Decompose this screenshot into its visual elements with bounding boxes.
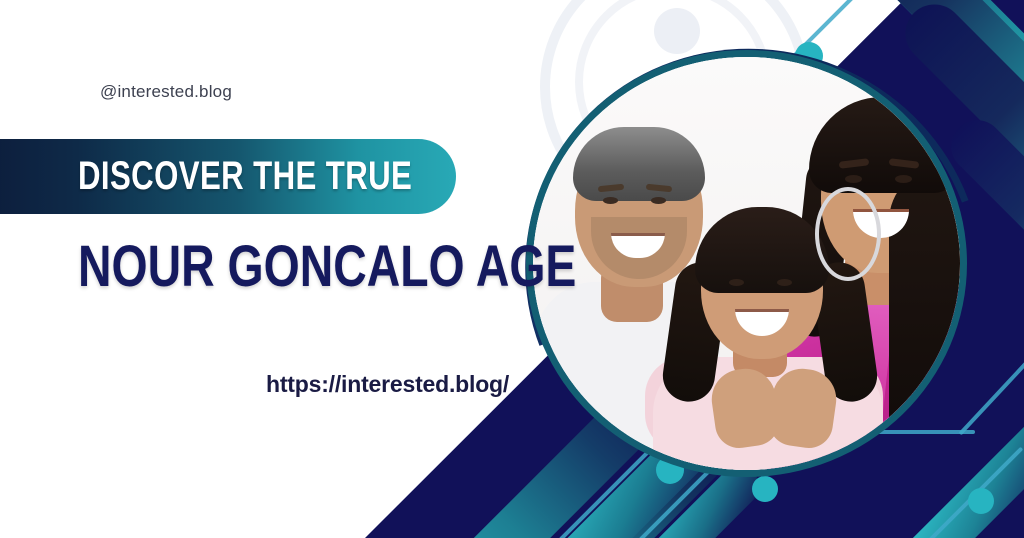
blog-handle: @interested.blog — [100, 82, 232, 102]
girl-eye-left — [729, 279, 744, 286]
family-photo-circle — [533, 57, 960, 470]
eyebrow-pill: DISCOVER THE TRUE — [0, 139, 456, 214]
mother-hoop-earring — [815, 187, 881, 281]
circuit-node-3 — [968, 488, 994, 514]
blog-url: https://interested.blog/ — [266, 371, 509, 398]
father-hair — [573, 127, 705, 201]
father-eye-right — [651, 197, 666, 204]
eyebrow-label: DISCOVER THE TRUE — [78, 154, 412, 199]
decorative-soft-dot — [654, 8, 700, 54]
father-eye-left — [603, 197, 618, 204]
banner-canvas: @interested.blog DISCOVER THE TRUE NOUR … — [0, 0, 1024, 538]
mother-eye-right — [895, 175, 912, 183]
girl-eye-right — [777, 279, 792, 286]
mother-eye-left — [845, 175, 862, 183]
page-title: NOUR GONCALO AGE — [78, 233, 576, 300]
family-photo-image — [533, 57, 960, 470]
